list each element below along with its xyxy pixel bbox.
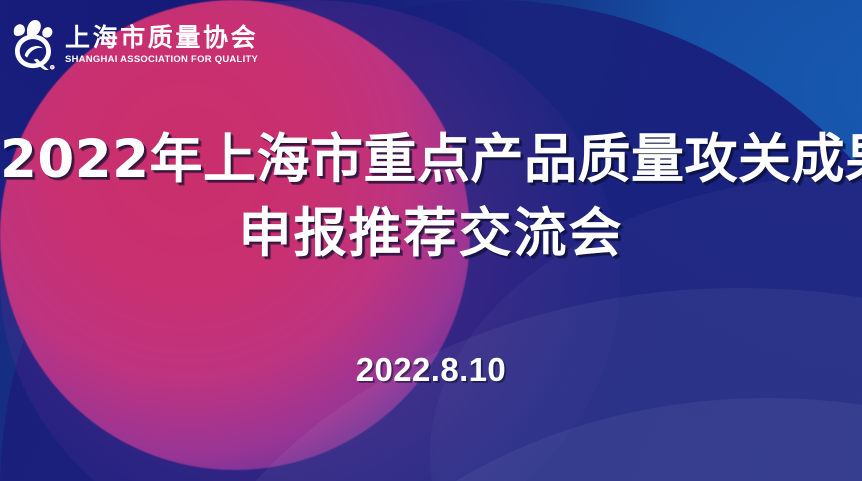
- logo-wordmark: 上海市质量协会 SHANGHAI ASSOCIATION FOR QUALITY: [65, 24, 261, 65]
- background-arc-lower: [268, 398, 862, 481]
- event-title-slide: R 上海市质量协会 SHANGHAI ASSOCIATION FOR QUALI…: [0, 0, 862, 481]
- event-title-line-2: 申报推荐交流会: [0, 200, 862, 268]
- organization-logo: R 上海市质量协会 SHANGHAI ASSOCIATION FOR QUALI…: [8, 19, 261, 71]
- logo-organization-name-en: SHANGHAI ASSOCIATION FOR QUALITY: [65, 55, 258, 66]
- event-date: 2022.8.10: [0, 350, 862, 390]
- event-title: 2022年上海市重点产品质量攻关成果 申报推荐交流会: [0, 126, 862, 268]
- event-title-line-1: 2022年上海市重点产品质量攻关成果: [0, 126, 862, 194]
- logo-organization-name-cn: 上海市质量协会: [65, 25, 261, 52]
- quality-association-q-mark-icon: R: [8, 19, 58, 71]
